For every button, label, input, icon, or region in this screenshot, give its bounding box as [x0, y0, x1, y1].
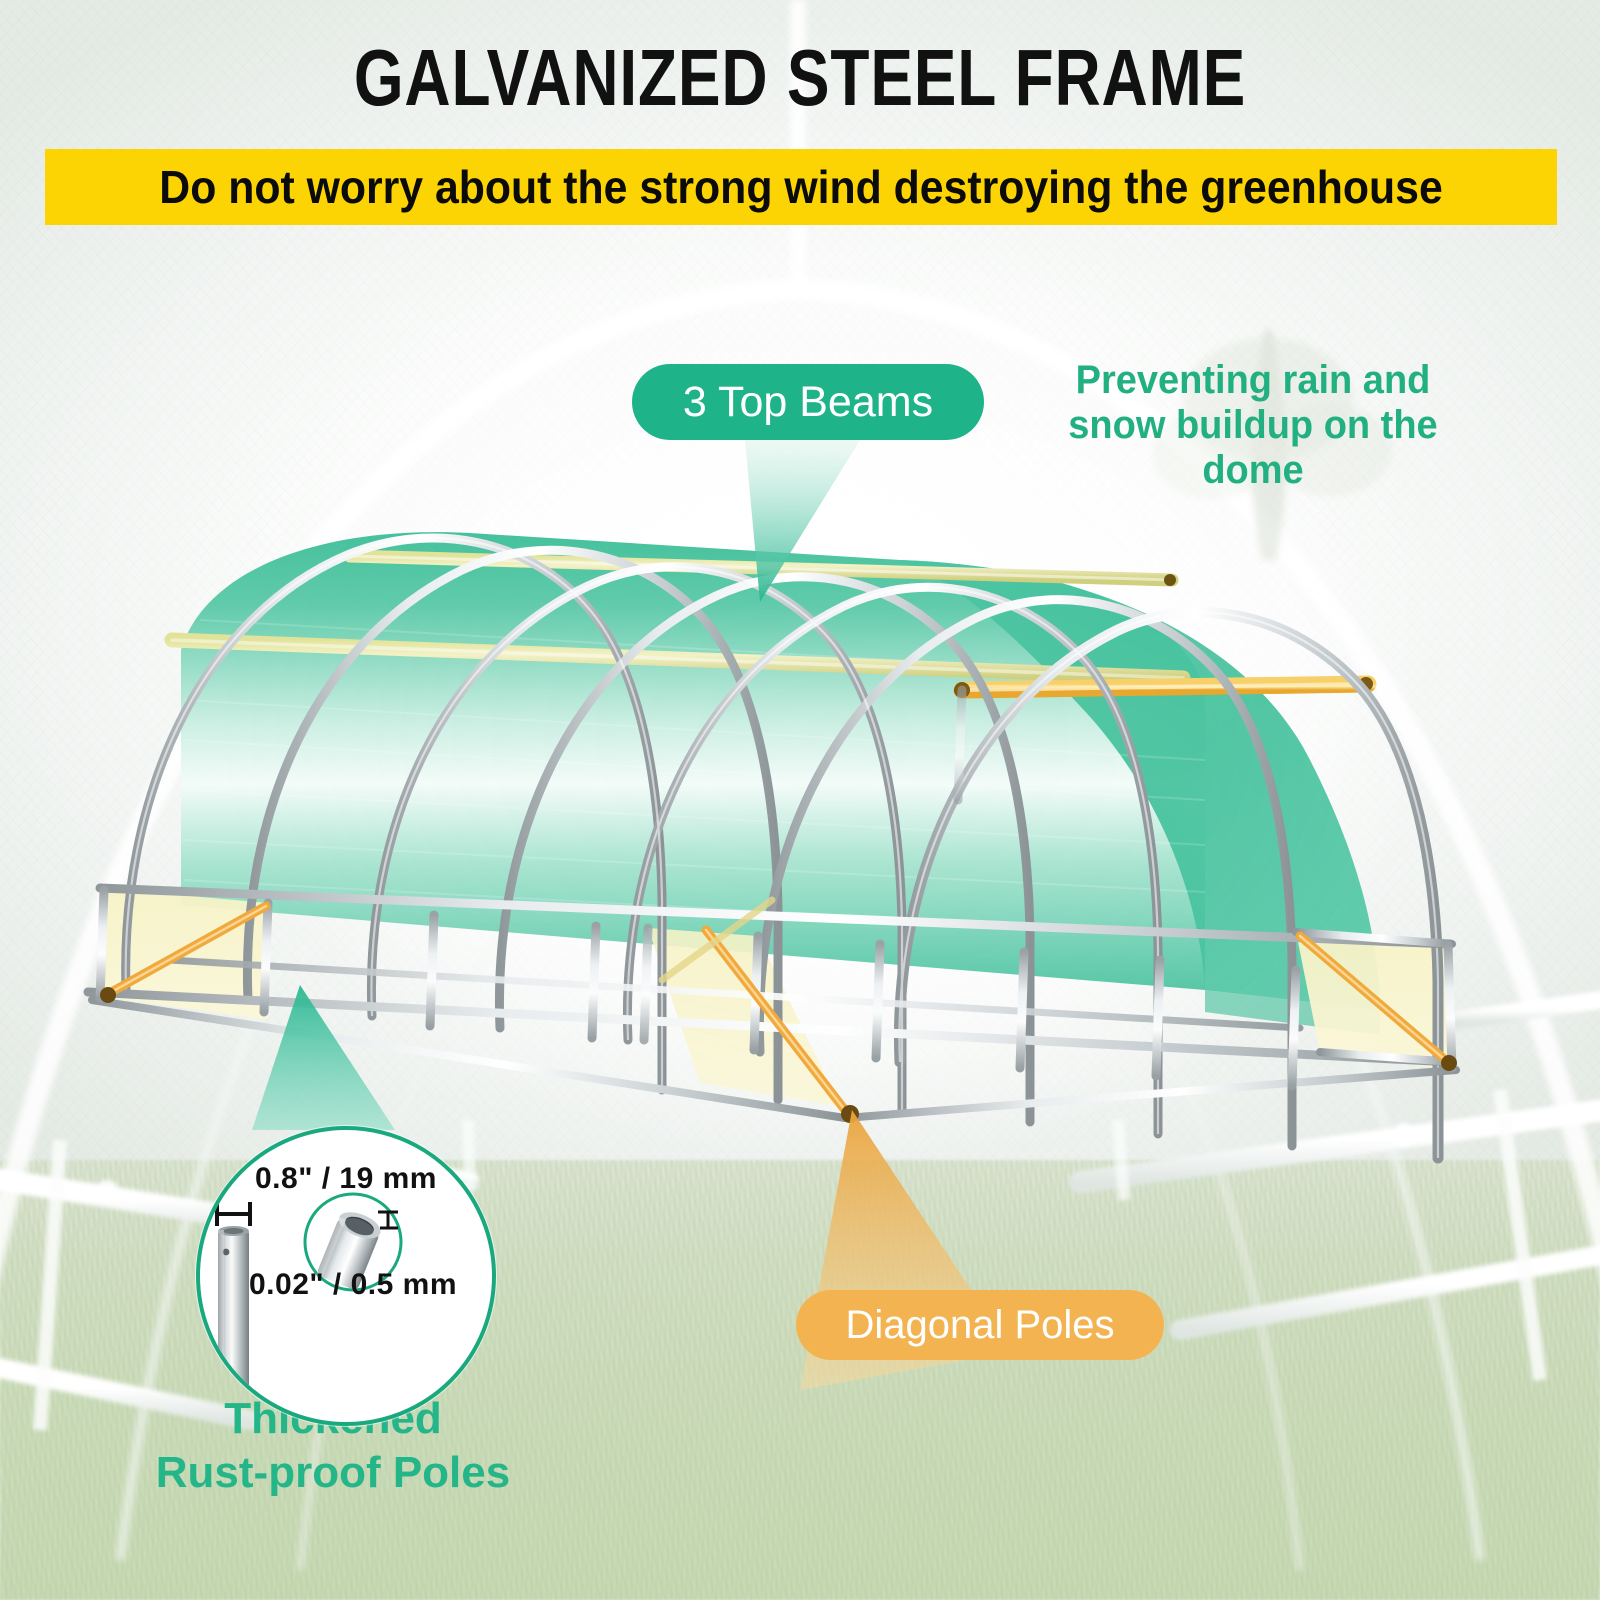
post-10-corner: [1448, 945, 1452, 1068]
post-7: [1020, 952, 1024, 1068]
badge-diagonal-poles[interactable]: Diagonal Poles: [796, 1290, 1164, 1360]
base-rail-right: [845, 1070, 1456, 1118]
note-rain-snow-line1: Preventing rain and: [1013, 358, 1494, 403]
spec-diameter-label: 0.8" / 19 mm: [200, 1162, 492, 1196]
note-rust-proof-line2: Rust-proof Poles: [118, 1446, 548, 1500]
spec-thickness-label: 0.02" / 0.5 mm: [214, 1268, 492, 1302]
post-inner-a: [644, 928, 648, 1040]
post-inner-b: [958, 690, 962, 800]
post-8: [1156, 960, 1160, 1076]
infographic-canvas: GALVANIZED STEEL FRAME Do not worry abou…: [0, 0, 1600, 1600]
caliper-width-marker: [217, 1202, 250, 1226]
post-4: [592, 926, 596, 1038]
page-title: GALVANIZED STEEL FRAME: [160, 38, 1440, 118]
post-1: [100, 890, 104, 998]
pole-sample: [218, 1226, 249, 1420]
post-3: [430, 915, 434, 1026]
subtitle-banner: Do not worry about the strong wind destr…: [45, 149, 1557, 225]
post-9: [1292, 970, 1296, 1086]
note-rain-snow-line2: snow buildup on the dome: [1013, 403, 1494, 493]
note-rain-snow: Preventing rain and snow buildup on the …: [1013, 358, 1494, 492]
badge-diagonal-poles-label: Diagonal Poles: [845, 1303, 1114, 1348]
spec-detail-circle: 0.8" / 19 mm 0.02" / 0.5 mm: [196, 1126, 496, 1426]
badge-top-beams[interactable]: 3 Top Beams: [632, 364, 984, 440]
post-6: [876, 944, 880, 1058]
subtitle-banner-text: Do not worry about the strong wind destr…: [159, 160, 1442, 214]
badge-top-beams-label: 3 Top Beams: [683, 378, 933, 427]
post-2: [264, 903, 268, 1012]
